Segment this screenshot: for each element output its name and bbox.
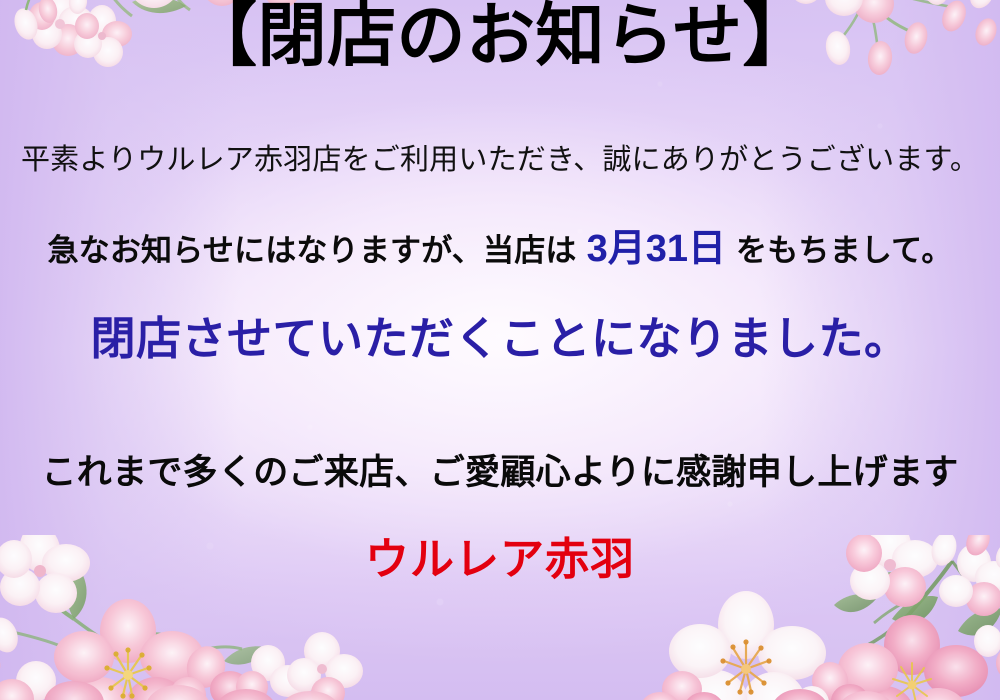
store-name: ウルレア赤羽 bbox=[0, 538, 1000, 582]
poster-text-content: 【閉店のお知らせ】 平素よりウルレア赤羽店をご利用いただき、誠にありがとうござい… bbox=[0, 0, 1000, 700]
closing-date-suffix: をもちまして。 bbox=[736, 233, 953, 268]
closing-statement: 閉店させていただくことになりました。 bbox=[0, 316, 1000, 361]
greeting-paragraph: 平素よりウルレア赤羽店をご利用いただき、誠にありがとうございます。 bbox=[0, 146, 1000, 175]
closing-date-value: 3月31日 bbox=[577, 228, 736, 270]
closing-notice-poster: 【閉店のお知らせ】 平素よりウルレア赤羽店をご利用いただき、誠にありがとうござい… bbox=[0, 0, 1000, 700]
closing-date-prefix: 急なお知らせにはなりますが、当店は bbox=[47, 233, 576, 268]
page-title: 【閉店のお知らせ】 bbox=[0, 2, 1000, 71]
closing-date-paragraph: 急なお知らせにはなりますが、当店は3月31日をもちまして。 bbox=[0, 230, 1000, 268]
gratitude-statement: これまで多くのご来店、ご愛顧心よりに感謝申し上げます bbox=[0, 455, 1000, 490]
